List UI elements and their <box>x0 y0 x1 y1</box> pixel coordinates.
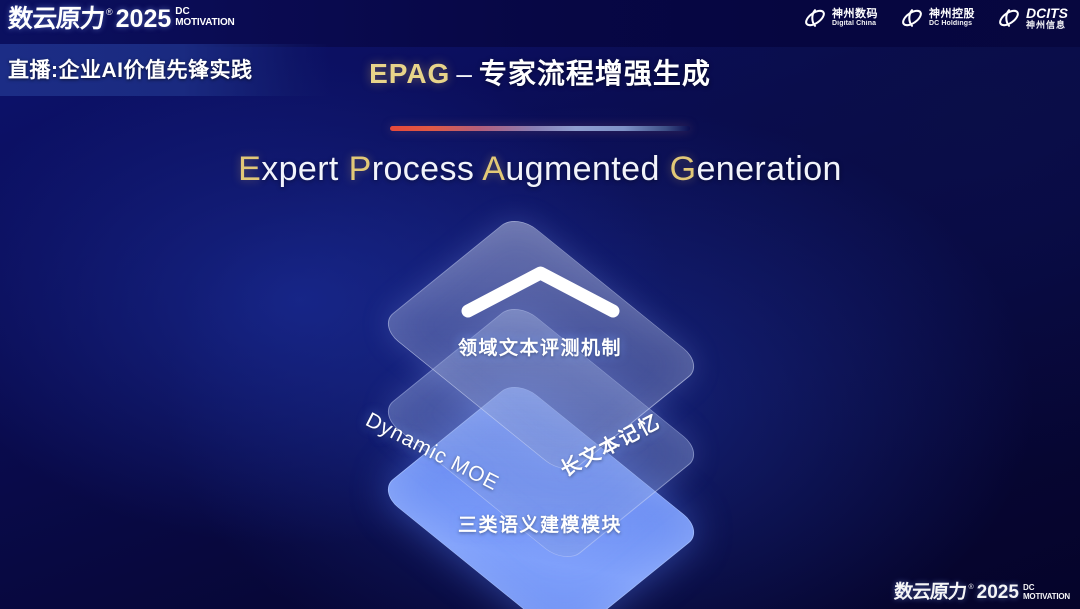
layered-architecture-diagram: 领域文本评测机制 Dynamic MOE 长文本记忆 三类语义建模模块 <box>305 225 775 585</box>
partner-logo-group: 神州数码 Digital China 神州控股 DC Holdings DCIT… <box>803 6 1068 30</box>
chevron-up-icon <box>458 263 623 321</box>
brand-dc-motivation: DC MOTIVATION <box>175 7 234 28</box>
subtitle-cap-a: A <box>482 150 505 188</box>
watermark-dc-label: DC <box>1023 584 1070 592</box>
watermark-year: 2025 <box>977 583 1019 603</box>
title-acronym: EPAG <box>369 58 450 89</box>
brand-name-cn: 数云原力 <box>7 6 105 32</box>
partner-text: 神州控股 DC Holdings <box>929 9 975 28</box>
subtitle-cap-p: P <box>349 150 372 188</box>
brand-logo: 数云原力 ® 2025 DC MOTIVATION <box>8 6 235 32</box>
swirl-icon <box>997 6 1021 30</box>
watermark-registered-mark: ® <box>969 583 974 592</box>
subtitle-rest-generation: eneration <box>696 150 841 188</box>
partner-logo-dcits: DCITS 神州信息 <box>997 6 1068 30</box>
partner-text: 神州数码 Digital China <box>832 9 878 28</box>
partner-logo-digital-china: 神州数码 Digital China <box>803 6 878 30</box>
subtitle-cap-g: G <box>670 150 697 188</box>
partner-name-en: 神州信息 <box>1026 21 1068 30</box>
title-divider-rule <box>390 126 690 131</box>
subtitle-cap-e: E <box>238 150 261 188</box>
subtitle-rest-augmented: ugmented <box>505 150 659 188</box>
brand-motivation-label: MOTIVATION <box>175 17 234 28</box>
slide-canvas: 数云原力 ® 2025 DC MOTIVATION 直播:企业AI价值先锋实践 … <box>0 0 1080 609</box>
brand-watermark: 数云原力 ® 2025 DC MOTIVATION <box>894 583 1070 603</box>
brand-year: 2025 <box>116 6 172 32</box>
title-dash: – <box>450 58 479 89</box>
partner-logo-dc-holdings: 神州控股 DC Holdings <box>900 6 975 30</box>
partner-name-cn: DCITS <box>1026 6 1068 21</box>
partner-text: DCITS 神州信息 <box>1026 6 1068 30</box>
swirl-icon <box>900 6 924 30</box>
subtitle-rest-expert: xpert <box>261 150 339 188</box>
watermark-motivation-label: MOTIVATION <box>1023 592 1070 601</box>
slide-subtitle: Expert Process Augmented Generation <box>0 150 1080 189</box>
swirl-icon <box>803 6 827 30</box>
partner-name-en: Digital China <box>832 20 878 27</box>
partner-name-cn: 神州控股 <box>929 9 975 21</box>
partner-name-cn: 神州数码 <box>832 9 878 21</box>
title-chinese: 专家流程增强生成 <box>479 58 711 89</box>
slide-title: EPAG–专家流程增强生成 <box>0 52 1080 92</box>
subtitle-rest-process: rocess <box>372 150 475 188</box>
watermark-name-cn: 数云原力 <box>894 583 967 603</box>
watermark-dc-motivation: DC MOTIVATION <box>1023 584 1070 601</box>
brand-registered-mark: ® <box>106 6 113 18</box>
brand-dc-label: DC <box>175 7 234 17</box>
partner-name-en: DC Holdings <box>929 20 975 27</box>
